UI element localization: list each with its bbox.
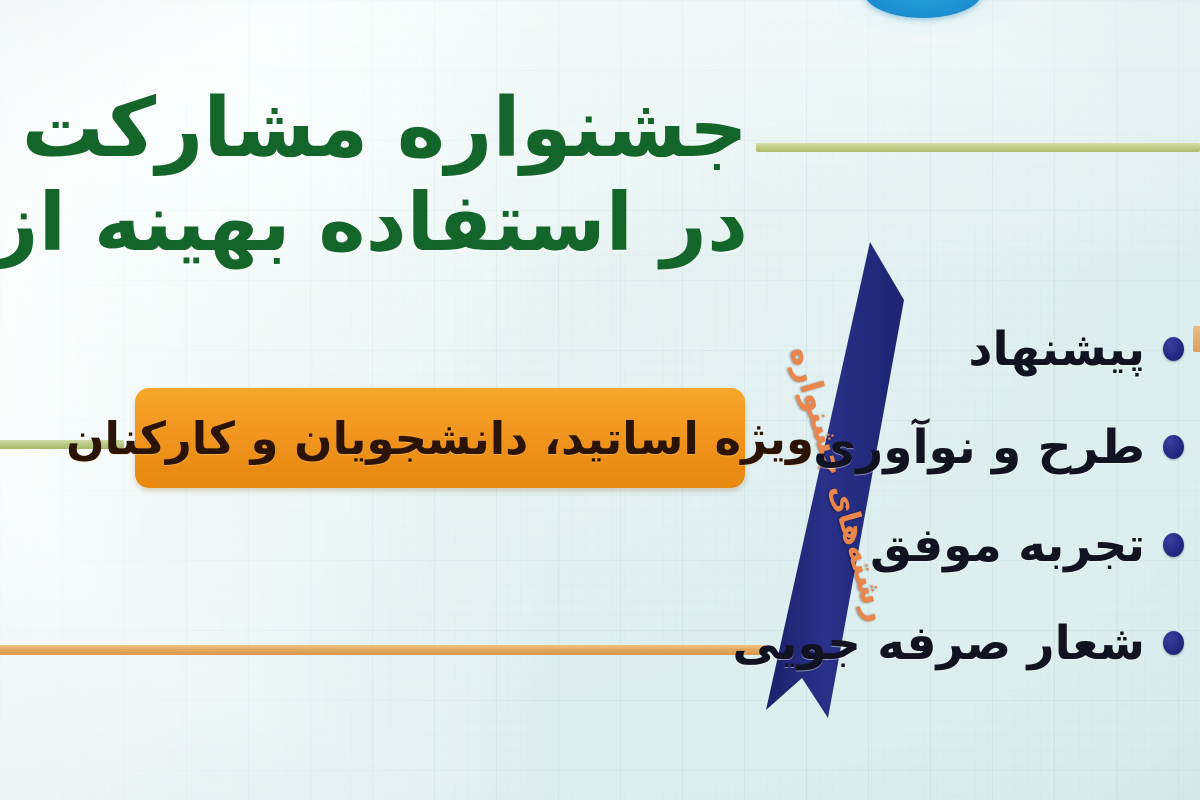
categories-list: پیشنهاد طرح و نوآوری تجربه موفق شعار صرف… xyxy=(764,300,1184,692)
divider-orange xyxy=(0,645,766,655)
category-label: تجربه موفق xyxy=(870,522,1145,569)
category-label: طرح و نوآوری xyxy=(813,424,1145,471)
category-label: شعار صرفه جویی xyxy=(732,620,1145,667)
list-item: پیشنهاد xyxy=(764,300,1184,398)
page-title: جشنواره مشارکت دانشگاهیان در استفاده بهی… xyxy=(36,86,748,266)
headline-line-2: در استفاده بهینه از آب xyxy=(36,181,748,266)
bullet-dot-icon xyxy=(1163,533,1184,557)
bullet-dot-icon xyxy=(1163,435,1184,459)
list-item: تجربه موفق xyxy=(764,496,1184,594)
poster-canvas: جشنواره مشارکت دانشگاهیان در استفاده بهی… xyxy=(0,0,1200,800)
headline-line-1: جشنواره مشارکت دانشگاهیان xyxy=(36,86,748,173)
list-item: طرح و نوآوری xyxy=(764,398,1184,496)
bullet-dot-icon xyxy=(1163,337,1184,361)
edge-decoration-sliver xyxy=(1193,326,1200,352)
category-label: پیشنهاد xyxy=(968,326,1145,373)
audience-badge: ویژه اساتید، دانشجویان و کارکنان xyxy=(135,388,745,488)
bullet-dot-icon xyxy=(1163,631,1184,655)
list-item: شعار صرفه جویی xyxy=(764,594,1184,692)
audience-badge-label: ویژه اساتید، دانشجویان و کارکنان xyxy=(66,416,814,461)
divider-olive-top xyxy=(756,143,1200,152)
